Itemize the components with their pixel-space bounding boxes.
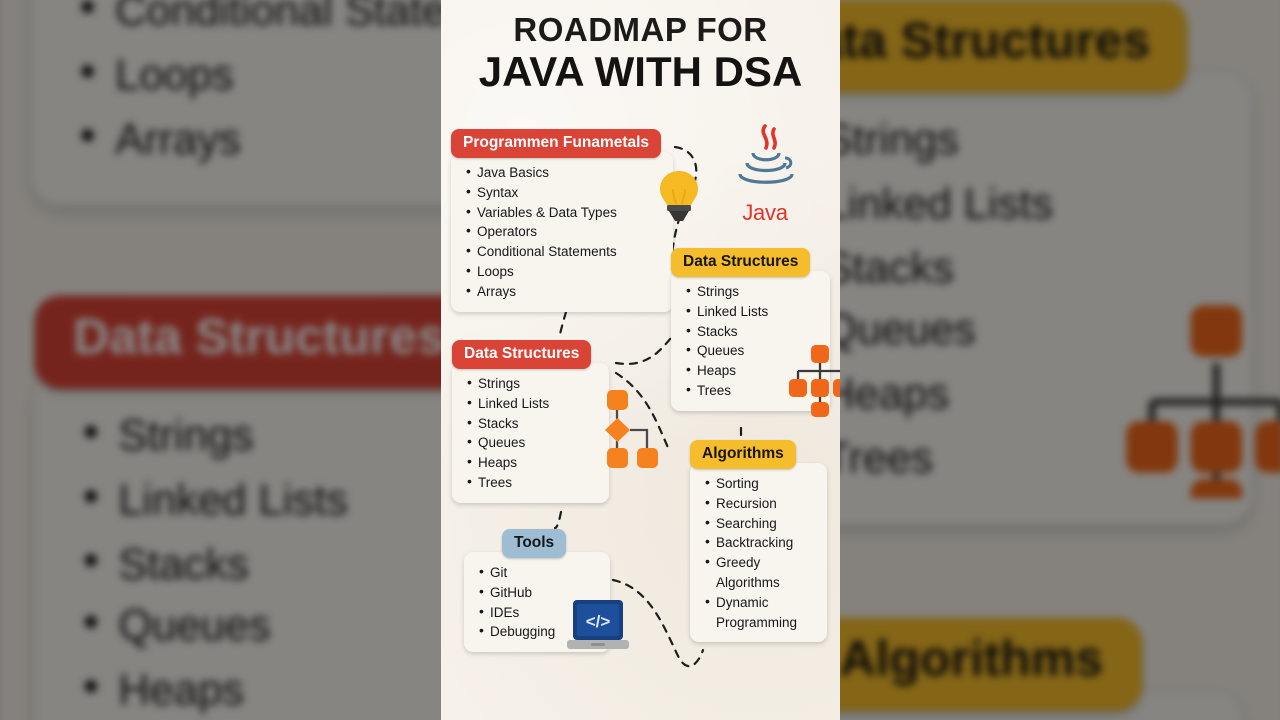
connector-fundamentals-to-ds-red [559, 312, 566, 338]
list-item: Stacks [824, 236, 1214, 300]
list-item: Stacks [478, 414, 597, 434]
backdrop-card-header: Algorithms [801, 618, 1142, 711]
list-item: Strings [478, 374, 597, 394]
card-header-data-structures-yellow: Data Structures [671, 248, 810, 277]
card-body-programming-fundamentals: Java Basics Syntax Variables & Data Type… [451, 152, 673, 312]
card-list-programming-fundamentals: Java Basics Syntax Variables & Data Type… [463, 163, 661, 302]
list-item: Recursion [716, 494, 815, 514]
java-logo-icon: Java [730, 122, 800, 224]
list-item: Greedy Algorithms [716, 553, 815, 593]
list-item: Heaps [478, 453, 597, 473]
card-header-tools: Tools [502, 529, 566, 558]
screenshot-stage: ROADMAP FOR JAVA WITH DSA Programmen Fun… [0, 0, 1280, 720]
card-list-data-structures-red: Strings Linked Lists Stacks Queues Heaps… [464, 374, 597, 493]
list-item: Syntax [477, 183, 661, 203]
list-item: Linked Lists [478, 394, 597, 414]
list-item: Backtracking [716, 533, 815, 553]
java-wordmark-label: Java [730, 202, 800, 224]
card-body-data-structures-red: Strings Linked Lists Stacks Queues Heaps… [452, 363, 609, 503]
list-item: Conditional Statements [477, 242, 661, 262]
list-item: Dynamic Programming [716, 593, 815, 633]
list-item: Git [490, 563, 598, 583]
list-item: Java Basics [477, 163, 661, 183]
title-line-2: JAVA WITH DSA [441, 48, 840, 96]
connector-ds-red-to-ds-yellow [616, 338, 671, 364]
list-item: Arrays [477, 282, 661, 302]
list-item: Operators [477, 222, 661, 242]
list-item: Sorting [716, 474, 815, 494]
tree-diagram-icon [1120, 299, 1280, 499]
list-item: Loops [477, 262, 661, 282]
list-item: Queues [478, 433, 597, 453]
list-item: Searching [716, 514, 815, 534]
card-body-algorithms: Sorting Recursion Searching Backtracking… [690, 463, 827, 642]
main-panel: ROADMAP FOR JAVA WITH DSA Programmen Fun… [441, 0, 840, 720]
list-item: Linked Lists [697, 302, 818, 322]
list-item: Strings [697, 282, 818, 302]
list-item: Strings [824, 109, 1214, 173]
card-header-data-structures-red: Data Structures [452, 340, 591, 369]
lightbulb-icon [657, 169, 701, 223]
backdrop-card-algorithms: Algorithms Sorting Recursion Searching B… [801, 618, 1261, 720]
backdrop-card-list: Strings Linked Lists Stacks Queues Heaps… [73, 405, 501, 720]
page-title: ROADMAP FOR JAVA WITH DSA [441, 10, 840, 96]
card-programming-fundamentals[interactable]: Programmen Funametals Java Basics Syntax… [451, 129, 673, 312]
card-header-algorithms: Algorithms [690, 440, 796, 469]
card-header-programming-fundamentals: Programmen Funametals [451, 129, 661, 158]
connector-ds-red-to-tools [555, 512, 561, 528]
list-item: Variables & Data Types [477, 203, 661, 223]
list-item: Stacks [697, 322, 818, 342]
flowchart-icon [604, 388, 664, 470]
laptop-code-icon: </> [567, 600, 629, 656]
tree-diagram-icon [789, 341, 840, 417]
card-list-algorithms: Sorting Recursion Searching Backtracking… [702, 474, 815, 632]
card-data-structures-red[interactable]: Data Structures Strings Linked Lists Sta… [452, 340, 614, 503]
laptop-code-glyph: </> [586, 612, 611, 631]
java-cup-icon [730, 122, 800, 198]
card-algorithms[interactable]: Algorithms Sorting Recursion Searching B… [690, 440, 833, 642]
list-item: Trees [478, 473, 597, 493]
list-item: Linked Lists [824, 173, 1214, 237]
title-line-1: ROADMAP FOR [441, 10, 840, 50]
backdrop-card-header: Data Structures [35, 296, 484, 389]
